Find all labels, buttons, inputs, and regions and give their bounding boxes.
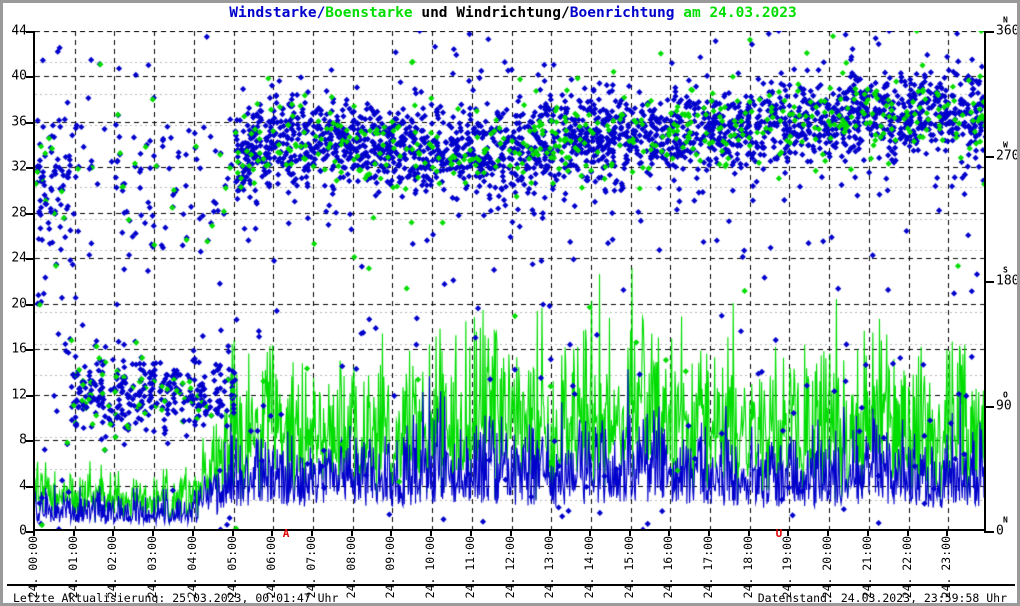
y-axis-left-tick-mark bbox=[26, 258, 35, 260]
x-axis-tick-label: 24. 08:00 bbox=[344, 536, 358, 598]
x-axis-tick-mark bbox=[33, 531, 35, 536]
compass-label-w: W bbox=[1003, 141, 1008, 150]
x-axis-tick-mark bbox=[946, 531, 948, 536]
x-axis-tick-mark bbox=[311, 531, 313, 536]
y-axis-right-tick-mark bbox=[984, 406, 994, 408]
x-axis-tick-mark bbox=[73, 531, 75, 536]
compass-label-n: N bbox=[1003, 16, 1008, 25]
x-axis-tick-mark bbox=[271, 531, 273, 536]
x-axis-tick-label: 24. 10:00 bbox=[423, 536, 437, 598]
x-axis-tick-label: 24. 14:00 bbox=[582, 536, 596, 598]
x-axis-tick-mark bbox=[390, 531, 392, 536]
x-axis-tick-label: 24. 03:00 bbox=[145, 536, 159, 598]
title-windrichtung: Boenrichtung bbox=[570, 5, 675, 21]
sun-marker-a: A bbox=[283, 527, 290, 540]
data-timestamp-text: Datenstand: 24.03.2023, 23:59:58 Uhr bbox=[758, 591, 1007, 605]
x-axis-tick-mark bbox=[510, 531, 512, 536]
x-axis-tick-label: 24. 12:00 bbox=[503, 536, 517, 598]
plot-area[interactable] bbox=[33, 31, 986, 531]
x-axis-tick-label: 24. 21:00 bbox=[860, 536, 874, 598]
y-axis-right-tick-mark bbox=[984, 281, 994, 283]
x-axis-tick-label: 24. 19:00 bbox=[780, 536, 794, 598]
y-axis-right-tick-label: 360 bbox=[996, 24, 1020, 39]
x-axis-tick-mark bbox=[549, 531, 551, 536]
y-axis-left-tick-label: 44 bbox=[3, 24, 27, 39]
x-axis-tick-label: 24. 00:00 bbox=[26, 536, 40, 598]
y-axis-left-tick-mark bbox=[26, 167, 35, 169]
x-axis-tick-mark bbox=[192, 531, 194, 536]
x-axis-tick-label: 24. 17:00 bbox=[701, 536, 715, 598]
title-und: und Windrichtung/ bbox=[413, 5, 570, 21]
x-axis-tick-mark bbox=[112, 531, 114, 536]
y-axis-left-tick-label: 36 bbox=[3, 114, 27, 129]
x-axis-tick-mark bbox=[907, 531, 909, 536]
y-axis-left-tick-label: 12 bbox=[3, 387, 27, 402]
compass-label-o: O bbox=[1003, 391, 1008, 400]
y-axis-right-tick-mark bbox=[984, 156, 994, 158]
y-axis-left-tick-mark bbox=[26, 395, 35, 397]
x-axis-tick-mark bbox=[748, 531, 750, 536]
chart-page: Windstarke/Boenstarke und Windrichtung/B… bbox=[0, 0, 1020, 606]
x-axis-tick-label: 24. 20:00 bbox=[820, 536, 834, 598]
x-axis-tick-label: 24. 09:00 bbox=[383, 536, 397, 598]
y-axis-left-tick-mark bbox=[26, 349, 35, 351]
y-axis-right-tick-label: 0 bbox=[996, 524, 1020, 539]
x-axis-tick-label: 24. 07:00 bbox=[304, 536, 318, 598]
y-axis-left-tick-label: 40 bbox=[3, 69, 27, 84]
y-axis-left-tick-mark bbox=[26, 440, 35, 442]
x-axis-tick-label: 24. 05:00 bbox=[225, 536, 239, 598]
y-axis-left-tick-label: 4 bbox=[3, 478, 27, 493]
y-axis-right-tick-mark bbox=[984, 31, 994, 33]
x-axis-tick-mark bbox=[589, 531, 591, 536]
y-axis-left-tick-mark bbox=[26, 486, 35, 488]
x-axis-tick-mark bbox=[787, 531, 789, 536]
y-axis-left-tick-label: 16 bbox=[3, 342, 27, 357]
x-axis-tick-mark bbox=[470, 531, 472, 536]
y-axis-left-tick-mark bbox=[26, 213, 35, 215]
x-axis-tick-mark bbox=[668, 531, 670, 536]
x-axis-tick-mark bbox=[232, 531, 234, 536]
x-axis-tick-mark bbox=[867, 531, 869, 536]
x-axis-tick-mark bbox=[708, 531, 710, 536]
x-axis-tick-mark bbox=[827, 531, 829, 536]
y-axis-left-tick-mark bbox=[26, 31, 35, 33]
compass-label-n: N bbox=[1003, 516, 1008, 525]
chart-title: Windstarke/Boenstarke und Windrichtung/B… bbox=[3, 5, 1020, 21]
title-windstarke: Windstarke/ bbox=[229, 5, 325, 21]
x-axis-tick-label: 24. 23:00 bbox=[939, 536, 953, 598]
y-axis-left-tick-label: 20 bbox=[3, 296, 27, 311]
x-axis-tick-label: 24. 04:00 bbox=[185, 536, 199, 598]
last-update-text: Letzte Aktualisierung: 25.03.2023, 00:01… bbox=[13, 591, 338, 605]
x-axis-tick-label: 24. 13:00 bbox=[542, 536, 556, 598]
x-axis-tick-label: 24. 01:00 bbox=[66, 536, 80, 598]
x-axis-tick-label: 24. 06:00 bbox=[264, 536, 278, 598]
y-axis-left-tick-label: 8 bbox=[3, 433, 27, 448]
y-axis-right-tick-mark bbox=[984, 531, 994, 533]
y-axis-left-tick-label: 28 bbox=[3, 205, 27, 220]
y-axis-left-tick-mark bbox=[26, 122, 35, 124]
x-axis-tick-mark bbox=[629, 531, 631, 536]
y-axis-right-tick-label: 270 bbox=[996, 149, 1020, 164]
compass-label-s: S bbox=[1003, 266, 1008, 275]
x-axis-tick-label: 24. 15:00 bbox=[622, 536, 636, 598]
plot-data-canvas bbox=[35, 31, 986, 531]
x-axis-tick-mark bbox=[351, 531, 353, 536]
y-axis-left-tick-mark bbox=[26, 76, 35, 78]
title-boenstarke: Boenstarke bbox=[325, 5, 412, 21]
y-axis-left-tick-label: 24 bbox=[3, 251, 27, 266]
y-axis-right-tick-label: 180 bbox=[996, 274, 1020, 289]
y-axis-left-tick-mark bbox=[26, 304, 35, 306]
x-axis-tick-label: 24. 02:00 bbox=[105, 536, 119, 598]
x-axis-tick-label: 24. 16:00 bbox=[661, 536, 675, 598]
sun-marker-u: U bbox=[776, 527, 783, 540]
x-axis-tick-label: 24. 11:00 bbox=[463, 536, 477, 598]
y-axis-right-tick-label: 90 bbox=[996, 399, 1020, 414]
x-axis-tick-label: 24. 18:00 bbox=[741, 536, 755, 598]
x-axis-tick-mark bbox=[430, 531, 432, 536]
y-axis-left-tick-label: 0 bbox=[3, 524, 27, 539]
x-axis-tick-label: 24. 22:00 bbox=[900, 536, 914, 598]
title-boenrichtung: am 24.03.2023 bbox=[675, 5, 797, 21]
x-axis-tick-mark bbox=[152, 531, 154, 536]
y-axis-left-tick-label: 32 bbox=[3, 160, 27, 175]
